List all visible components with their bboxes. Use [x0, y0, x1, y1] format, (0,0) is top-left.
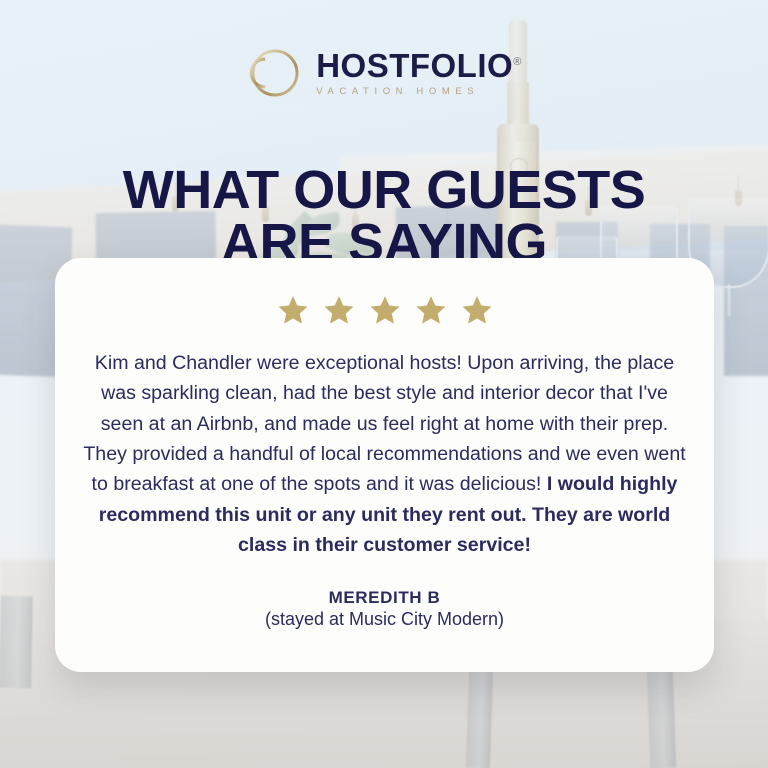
star-rating: [55, 258, 714, 326]
brand-tagline: VACATION HOMES: [316, 87, 522, 97]
star-icon: [461, 294, 493, 326]
brand-wordmark: HOSTFOLIO®: [316, 49, 522, 82]
testimonial-attribution: MEREDITH B (stayed at Music City Modern): [55, 587, 714, 632]
testimonial-card: Kim and Chandler were exceptional hosts!…: [55, 258, 714, 672]
brand-logo: HOSTFOLIO® VACATION HOMES: [0, 44, 768, 102]
star-icon: [323, 294, 355, 326]
page-title: WHAT OUR GUESTS ARE SAYING: [0, 164, 768, 270]
page-title-line-1: WHAT OUR GUESTS: [0, 164, 768, 217]
star-icon: [369, 294, 401, 326]
star-icon: [277, 294, 309, 326]
hostfolio-monogram-icon: [246, 44, 304, 102]
registered-trademark-icon: ®: [513, 56, 522, 68]
testimonial-graphic: HOSTFOLIO® VACATION HOMES WHAT OUR GUEST…: [0, 0, 768, 768]
brand-wordmark-text: HOSTFOLIO: [316, 47, 513, 84]
reviewer-name: MEREDITH B: [55, 587, 714, 609]
reviewer-property: (stayed at Music City Modern): [55, 608, 714, 631]
star-icon: [415, 294, 447, 326]
brand-wordmark-group: HOSTFOLIO® VACATION HOMES: [316, 49, 522, 97]
testimonial-quote: Kim and Chandler were exceptional hosts!…: [81, 348, 688, 561]
